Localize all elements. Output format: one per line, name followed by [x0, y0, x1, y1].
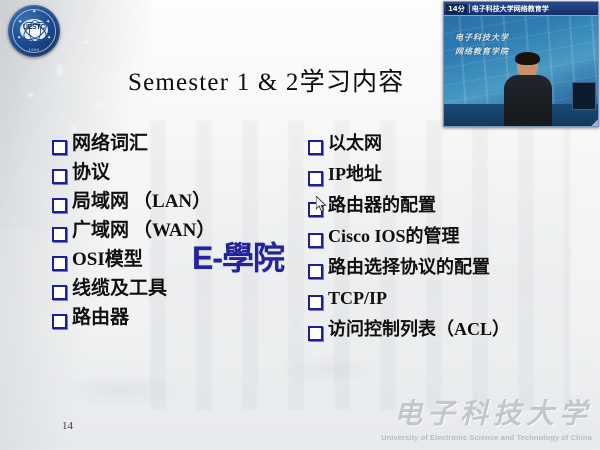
bullet-column-right: 以太网 IP地址 路由器的配置 Cisco IOS的管理 路由选择协议的配置 T… — [308, 134, 598, 351]
video-resize-handle[interactable] — [591, 119, 598, 126]
emblem-letters: UESTC — [22, 24, 46, 31]
video-title: 电子科技大学网络教育学 — [472, 4, 549, 14]
bullet-item: 路由器 — [52, 308, 292, 329]
bullet-label: 协议 — [72, 163, 110, 184]
bullet-sublabel: （LAN） — [133, 191, 211, 212]
bullet-square-icon — [308, 264, 323, 279]
university-emblem-icon: ✦ ✦ ✦ ✦ ✦ UESTC 1956 — [8, 5, 60, 57]
bullet-label: 广域网 — [72, 220, 129, 241]
bullet-square-icon — [52, 198, 67, 213]
bullet-item: 访问控制列表（ACL） — [308, 320, 598, 341]
instructor-body — [504, 75, 552, 126]
video-frame[interactable]: 电子科技大学 网络教育学院 — [444, 16, 598, 126]
bullet-item: TCP/IP — [308, 289, 598, 310]
university-name-chinese: 电子科技大学 — [381, 392, 592, 432]
e-academy-watermark: E-學院 — [192, 233, 284, 279]
bullet-square-icon — [52, 169, 67, 184]
bullet-label-group: 局域网 （LAN） — [72, 192, 211, 213]
university-watermark: 电子科技大学 University of Electronic Science … — [381, 392, 592, 442]
bullet-item: Cisco IOS的管理 — [308, 227, 598, 248]
bullet-square-icon — [308, 295, 323, 310]
video-duration-badge: 14分 — [446, 4, 467, 14]
titlebar-separator — [469, 4, 470, 13]
bullet-square-icon — [308, 202, 323, 217]
video-backdrop-text: 电子科技大学 网络教育学院 — [455, 30, 509, 58]
emblem-star: ✦ — [47, 37, 51, 41]
bullet-square-icon — [52, 140, 67, 155]
bullet-item: 局域网 （LAN） — [52, 192, 292, 213]
bullet-square-icon — [308, 171, 323, 186]
bullet-label: 路由选择协议的配置 — [328, 258, 490, 277]
bullet-label: 访问控制列表（ACL） — [328, 320, 510, 339]
instructor-hair — [515, 52, 540, 65]
bullet-item: 网络词汇 — [52, 134, 292, 155]
video-titlebar[interactable]: 14分 电子科技大学网络教育学 — [444, 2, 598, 16]
bullet-item: 路由器的配置 — [308, 196, 598, 217]
video-overlay-window[interactable]: 14分 电子科技大学网络教育学 电子科技大学 网络教育学院 — [443, 1, 599, 127]
bullet-label: 线缆及工具 — [72, 279, 167, 300]
bullet-square-icon — [308, 326, 323, 341]
bullet-item: 协议 — [52, 163, 292, 184]
emblem-year: 1956 — [8, 47, 60, 52]
bullet-label: 以太网 — [328, 134, 382, 153]
bullet-square-icon — [52, 314, 67, 329]
bullet-item: 路由选择协议的配置 — [308, 258, 598, 279]
bullet-square-icon — [308, 140, 323, 155]
page-number: 14 — [62, 420, 73, 432]
bullet-label: 网络词汇 — [72, 134, 148, 155]
emblem-star: ✦ — [32, 11, 36, 15]
bullet-label: TCP/IP — [328, 289, 387, 308]
bullet-item: IP地址 — [308, 165, 598, 186]
bullet-square-icon — [52, 256, 67, 271]
bullet-label: Cisco IOS的管理 — [328, 227, 460, 246]
emblem-atom-icon: UESTC — [22, 20, 46, 40]
bullet-label: 局域网 — [72, 191, 129, 212]
backdrop-line-1: 电子科技大学 — [455, 30, 509, 44]
bullet-label: 路由器 — [72, 308, 129, 329]
emblem-star: ✦ — [17, 37, 21, 41]
university-name-english: University of Electronic Science and Tec… — [381, 433, 592, 442]
backdrop-line-2: 网络教育学院 — [455, 44, 509, 58]
bullet-square-icon — [52, 227, 67, 242]
video-monitor — [572, 82, 596, 110]
bullet-label: 路由器的配置 — [328, 196, 436, 215]
bullet-item: 线缆及工具 — [52, 279, 292, 300]
video-instructor — [504, 54, 552, 126]
bullet-square-icon — [308, 233, 323, 248]
bullet-label: IP地址 — [328, 165, 382, 184]
bullet-square-icon — [52, 285, 67, 300]
presentation-slide: ✦ ✦ ✦ ✦ ✦ UESTC 1956 Semester 1 & 2学习内容 … — [0, 0, 600, 450]
bullet-label: OSI模型 — [72, 250, 143, 271]
bullet-item: 以太网 — [308, 134, 598, 155]
